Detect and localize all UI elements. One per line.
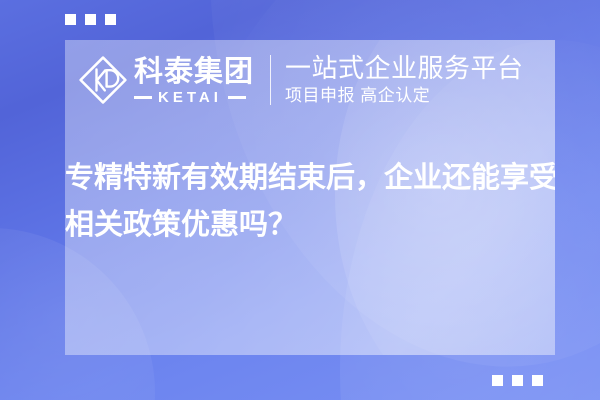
tagline-secondary: 项目申报 高企认定 bbox=[285, 85, 524, 106]
brand-header: 科泰集团 KETAI 一站式企业服务平台 项目申报 高企认定 bbox=[77, 45, 545, 115]
page-title: 专精特新有效期结束后，企业还能享受相关政策优惠吗？ bbox=[65, 155, 555, 249]
brand-name-cn: 科泰集团 bbox=[134, 57, 254, 87]
brand-name-en: KETAI bbox=[158, 90, 222, 105]
decorative-square bbox=[532, 375, 543, 386]
brand-name-en-row: KETAI bbox=[134, 90, 254, 105]
brand-tagline: 一站式企业服务平台 项目申报 高企认定 bbox=[285, 54, 524, 106]
decorative-square bbox=[65, 14, 76, 25]
decorative-square bbox=[85, 14, 96, 25]
brand-wordmark: 科泰集团 KETAI bbox=[134, 57, 254, 104]
decorative-square bbox=[492, 375, 503, 386]
ketai-logo-icon bbox=[77, 54, 129, 106]
tagline-primary: 一站式企业服务平台 bbox=[285, 54, 524, 83]
rule-right-icon bbox=[228, 96, 246, 99]
brand-divider bbox=[270, 55, 271, 105]
decorative-square bbox=[105, 14, 116, 25]
decorative-dots-bottom bbox=[492, 375, 543, 386]
poster-canvas: 科泰集团 KETAI 一站式企业服务平台 项目申报 高企认定 专精特新有效期结束… bbox=[0, 0, 600, 400]
decorative-square bbox=[512, 375, 523, 386]
content-panel: 科泰集团 KETAI 一站式企业服务平台 项目申报 高企认定 专精特新有效期结束… bbox=[65, 40, 555, 355]
rule-left-icon bbox=[134, 96, 152, 99]
decorative-dots-top bbox=[65, 14, 116, 25]
